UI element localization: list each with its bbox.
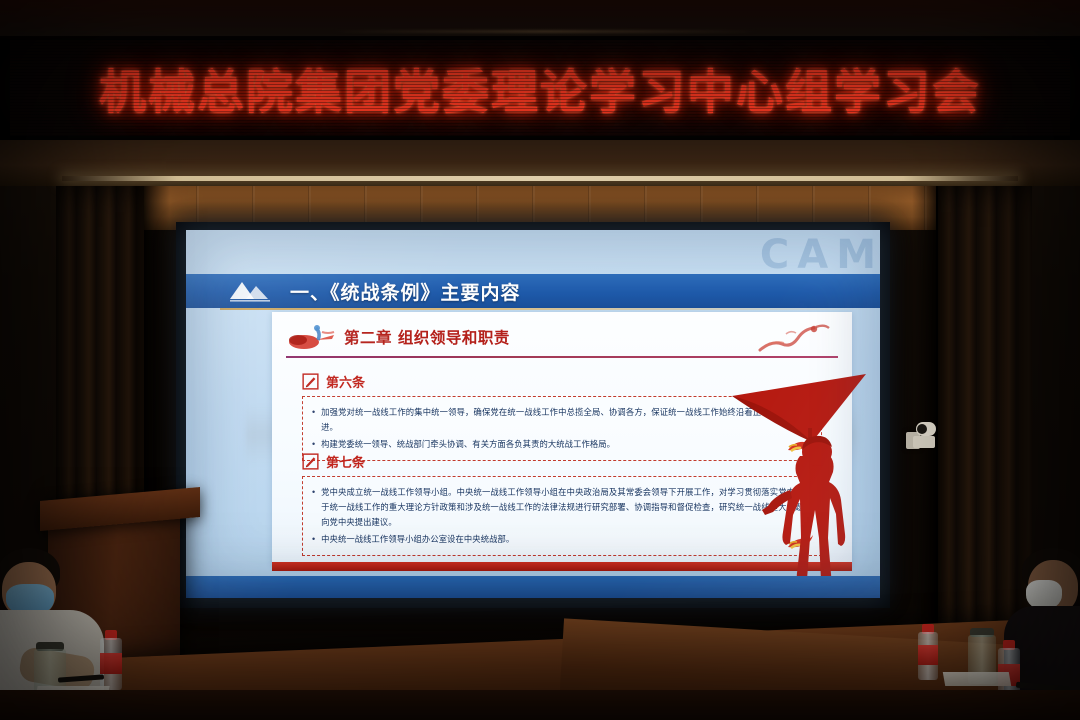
camera-lens xyxy=(917,424,927,434)
water-bottle-icon xyxy=(100,630,122,690)
pen-edit-icon xyxy=(302,453,319,470)
bullet-text: 中央统一战线工作领导小组办公室设在中央统战部。 xyxy=(321,532,514,547)
led-banner-screen: 机械总院集团党委理论学习中心组学习会 xyxy=(10,40,1070,136)
article-title-6: 第六条 xyxy=(326,372,365,391)
presentation-slide: CAM 一、《统战条例》主要内容 xyxy=(186,230,880,598)
projection-screen: CAM 一、《统战条例》主要内容 xyxy=(186,230,880,598)
ptz-camera-icon xyxy=(906,420,936,450)
bullet-marker: • xyxy=(312,485,315,530)
mountain-logo-icon xyxy=(228,279,274,303)
notebook-icon xyxy=(943,672,1011,686)
slide-title-underline xyxy=(220,308,880,310)
water-bottle-icon xyxy=(918,624,938,680)
led-banner-frame: 机械总院集团党委理论学习中心组学习会 xyxy=(0,36,1080,140)
soldier-graphic xyxy=(716,370,880,582)
bullet-marker: • xyxy=(312,437,315,452)
red-ink-seal-icon xyxy=(286,322,342,352)
wall-light-rail xyxy=(62,176,1018,181)
bottle-label xyxy=(100,653,122,675)
bullet-marker: • xyxy=(312,532,315,547)
bullet-text: 构建党委统一领导、统战部门牵头协调、有关方面各负其责的大统战工作格局。 xyxy=(321,437,615,452)
chapter-divider xyxy=(286,356,838,358)
led-banner-text: 机械总院集团党委理论学习中心组学习会 xyxy=(10,54,1070,123)
camera-body xyxy=(913,436,935,448)
slide-title-bar: 一、《统战条例》主要内容 xyxy=(186,274,880,308)
bullet-marker: • xyxy=(312,405,315,435)
ceiling-light-strip xyxy=(330,30,760,33)
curtain-shadow-right xyxy=(912,186,938,646)
chapter-header: 第二章 组织领导和职责 xyxy=(286,320,838,354)
chapter-title: 第二章 组织领导和职责 xyxy=(344,326,510,348)
cam-watermark: CAM xyxy=(760,232,880,278)
article-title-7: 第七条 xyxy=(326,452,365,471)
slide-footer-bar xyxy=(186,576,880,598)
meeting-room-scene: 机械总院集团党委理论学习中心组学习会 CAM 一、《统战条例》主要内容 xyxy=(0,0,1080,720)
desk-front-panel xyxy=(0,690,1080,720)
pen-edit-icon xyxy=(302,373,319,390)
bottle-label xyxy=(918,645,938,665)
red-ink-dragon-icon xyxy=(756,320,832,360)
soldier-with-red-flag-silhouette xyxy=(716,370,880,582)
slide-title: 一、《统战条例》主要内容 xyxy=(290,278,521,305)
